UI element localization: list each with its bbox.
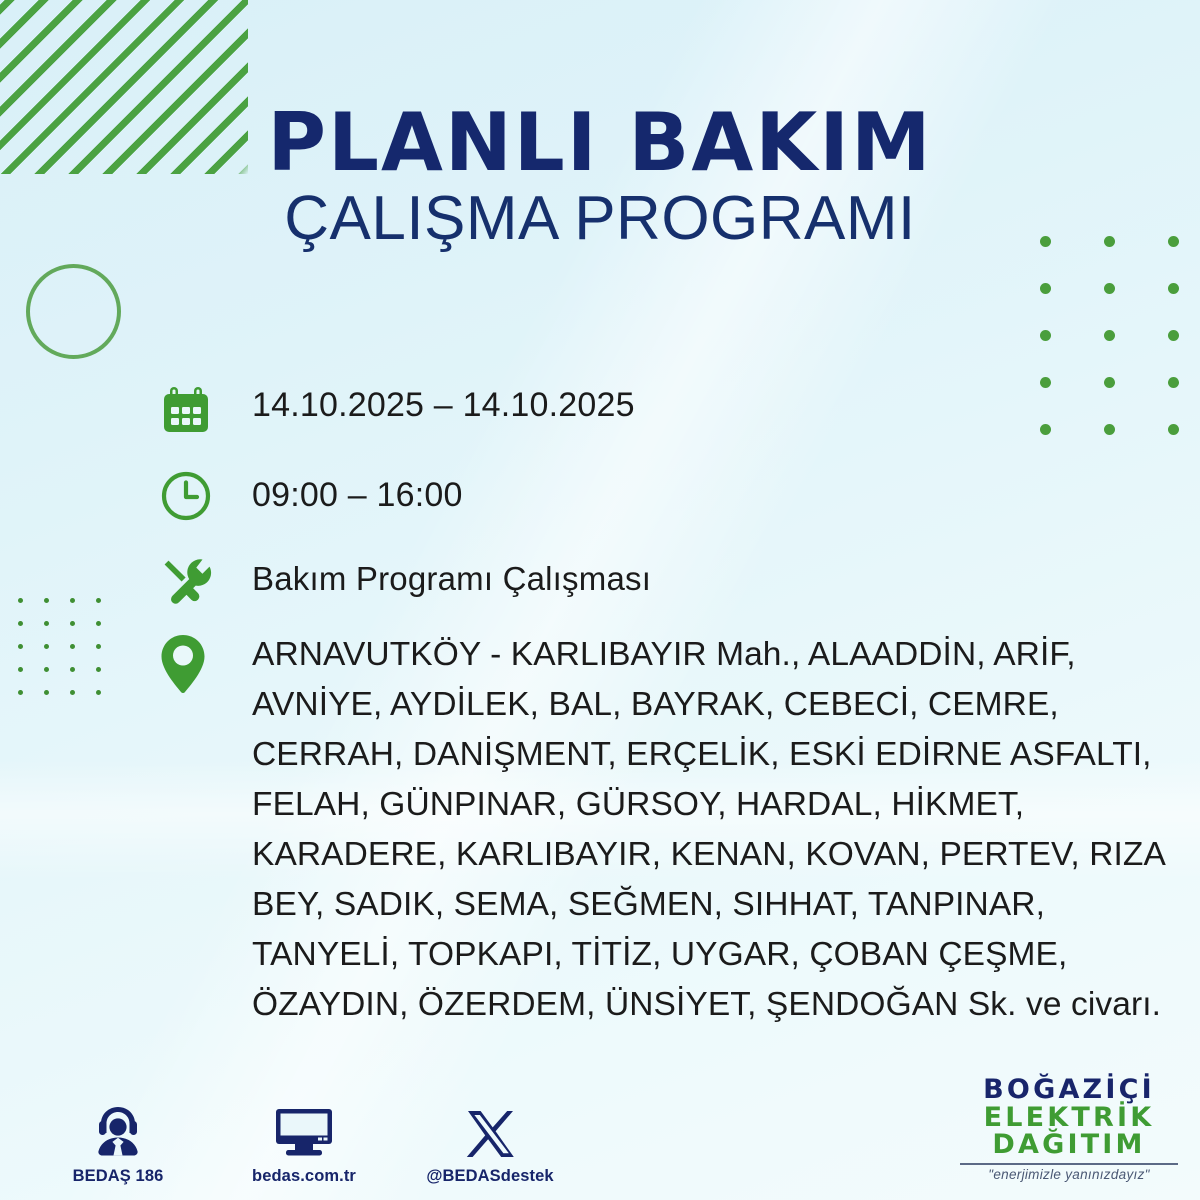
contact-social[interactable]: @BEDASdestek xyxy=(426,1098,554,1186)
headset-operator-icon xyxy=(54,1098,182,1160)
brand-divider xyxy=(960,1163,1178,1165)
contact-phone[interactable]: BEDAŞ 186 xyxy=(54,1098,182,1186)
contact-phone-label: BEDAŞ 186 xyxy=(54,1167,182,1186)
monitor-icon xyxy=(240,1098,368,1160)
company-logo: BOĞAZİÇİ ELEKTRİK DAĞITIM "enerjimizle y… xyxy=(954,1076,1184,1182)
calendar-icon xyxy=(160,378,252,436)
info-row-work-type: Bakım Programı Çalışması xyxy=(160,556,1200,630)
contact-website-label: bedas.com.tr xyxy=(240,1167,368,1186)
map-pin-icon xyxy=(160,630,252,694)
brand-line-bogazici: BOĞAZİÇİ xyxy=(954,1076,1184,1104)
brand-tagline: "enerjimizle yanınızdayız" xyxy=(954,1167,1184,1182)
footer-contact-list: BEDAŞ 186 bedas.com.tr xyxy=(54,1098,554,1186)
location-text: ARNAVUTKÖY - KARLIBAYIR Mah., ALAADDİN, … xyxy=(252,630,1200,1030)
date-range-text: 14.10.2025 – 14.10.2025 xyxy=(252,378,635,425)
clock-icon xyxy=(160,468,252,522)
outage-info-list: 14.10.2025 – 14.10.2025 09:00 – 16:00 Ba… xyxy=(160,378,1200,1030)
brand-line-elektrik: ELEKTRİK xyxy=(954,1104,1184,1132)
work-type-text: Bakım Programı Çalışması xyxy=(252,556,651,598)
info-row-location: ARNAVUTKÖY - KARLIBAYIR Mah., ALAADDİN, … xyxy=(160,630,1200,1030)
page-subtitle: ÇALIŞMA PROGRAMI xyxy=(0,186,1200,252)
info-row-time: 09:00 – 16:00 xyxy=(160,468,1200,556)
circle-outline-decoration xyxy=(26,264,121,359)
footer: BEDAŞ 186 bedas.com.tr xyxy=(0,1068,1200,1200)
tools-icon xyxy=(160,556,252,606)
page-title: PLANLI BAKIM xyxy=(0,106,1200,180)
x-twitter-icon xyxy=(426,1098,554,1160)
dot-grid-decoration-left xyxy=(18,598,122,713)
contact-website[interactable]: bedas.com.tr xyxy=(240,1098,368,1186)
page-header: PLANLI BAKIM ÇALIŞMA PROGRAMI xyxy=(0,106,1200,251)
info-row-date: 14.10.2025 – 14.10.2025 xyxy=(160,378,1200,468)
contact-social-label: @BEDASdestek xyxy=(426,1167,554,1186)
time-range-text: 09:00 – 16:00 xyxy=(252,468,463,515)
brand-line-dagitim: DAĞITIM xyxy=(954,1131,1184,1159)
